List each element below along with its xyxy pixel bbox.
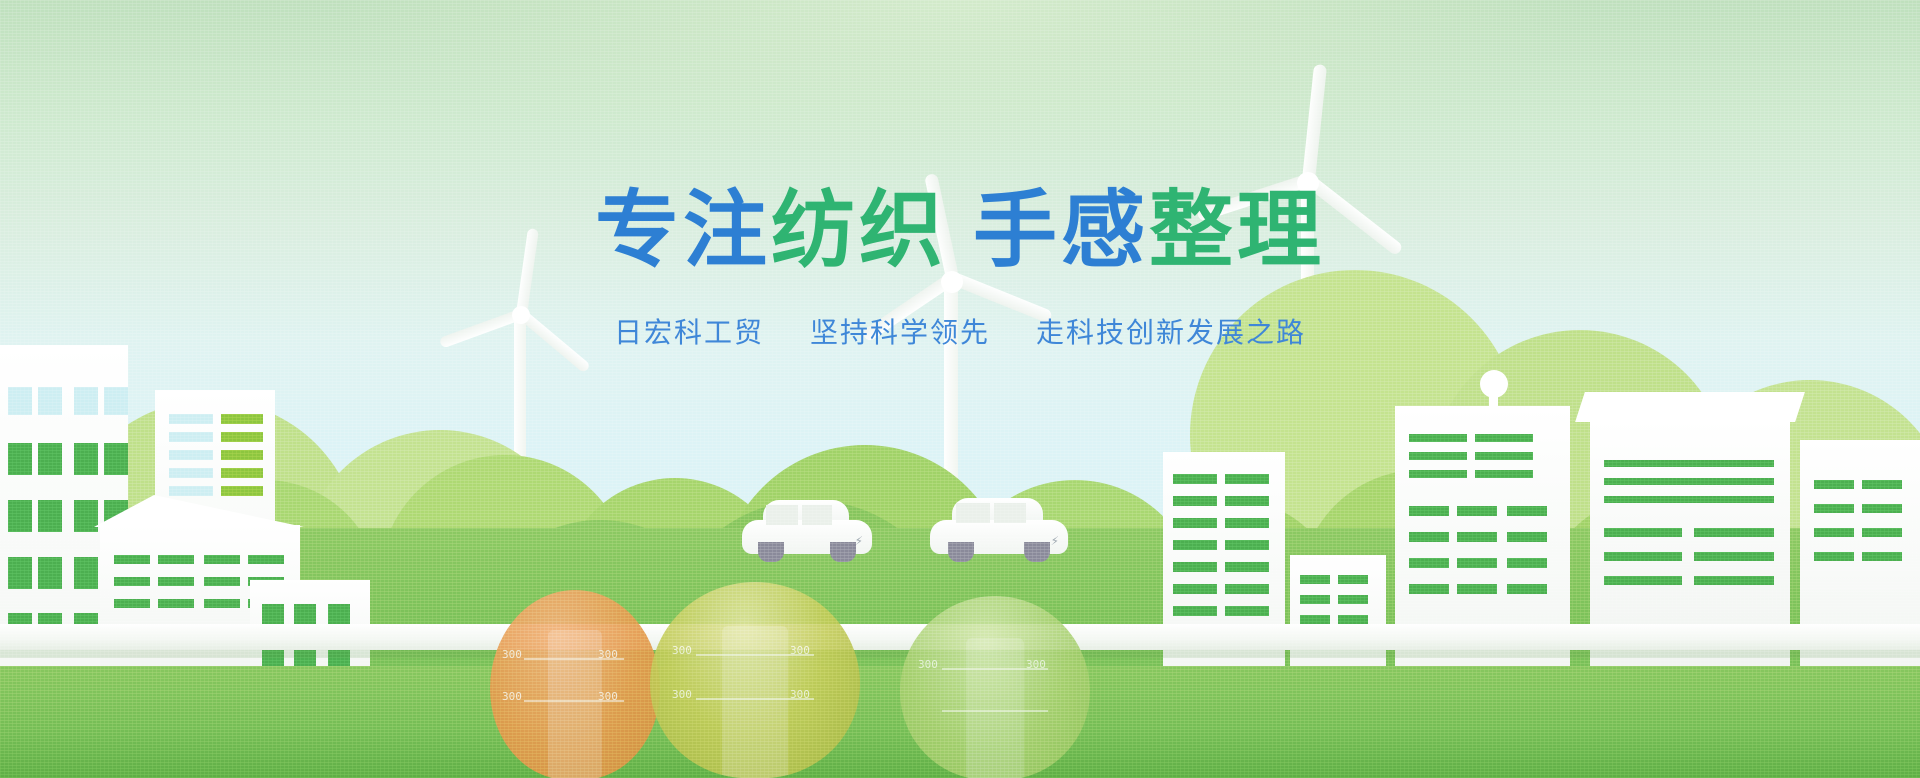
banner-stage: ⚡ ⚡ 300 300 300 300 300 300 300 300 300 … — [0, 0, 1920, 778]
roof-left-low — [94, 495, 304, 527]
headline-seg-2: 纺织 — [771, 186, 947, 274]
flask-graduation-label: 300 — [502, 648, 522, 661]
headline-seg-3: 手感 — [973, 186, 1149, 274]
antenna-ball-icon — [1480, 370, 1508, 398]
subtitle-seg-1: 日宏科工贸 — [614, 311, 764, 351]
flask-graduation-label: 300 — [1026, 658, 1046, 671]
flask-graduation-label: 300 — [502, 690, 522, 703]
subtitle-seg-3: 走科技创新发展之路 — [1036, 311, 1306, 351]
lightning-bolt-icon: ⚡ — [855, 534, 863, 548]
car-wheel — [948, 542, 974, 562]
lab-flask-green: 300 300 — [900, 596, 1090, 778]
page-subtitle: 日宏科工贸坚持科学领先走科技创新发展之路 — [0, 311, 1920, 351]
flask-graduation-label: 300 — [790, 688, 810, 701]
page-title: 专注纺织手感整理 — [0, 186, 1920, 274]
car-wheel — [830, 542, 856, 562]
electric-car-left: ⚡ — [742, 500, 872, 562]
flask-graduation-label: 300 — [790, 644, 810, 657]
headline-seg-4: 整理 — [1149, 186, 1325, 274]
flask-graduation-label: 300 — [672, 644, 692, 657]
electric-car-right: ⚡ — [930, 498, 1068, 562]
flask-graduation-label: 300 — [918, 658, 938, 671]
flask-graduation-label: 300 — [672, 688, 692, 701]
building-right-wide — [1395, 406, 1570, 710]
roof-far-right — [1575, 392, 1805, 422]
headline-seg-1: 专注 — [595, 186, 771, 274]
car-wheel — [1024, 542, 1050, 562]
subtitle-seg-2: 坚持科学领先 — [810, 311, 990, 351]
car-wheel — [758, 542, 784, 562]
lightning-bolt-icon: ⚡ — [1051, 534, 1059, 548]
lab-flask-olive: 300 300 300 300 — [650, 582, 860, 778]
lab-flask-amber: 300 300 300 300 — [490, 590, 660, 778]
